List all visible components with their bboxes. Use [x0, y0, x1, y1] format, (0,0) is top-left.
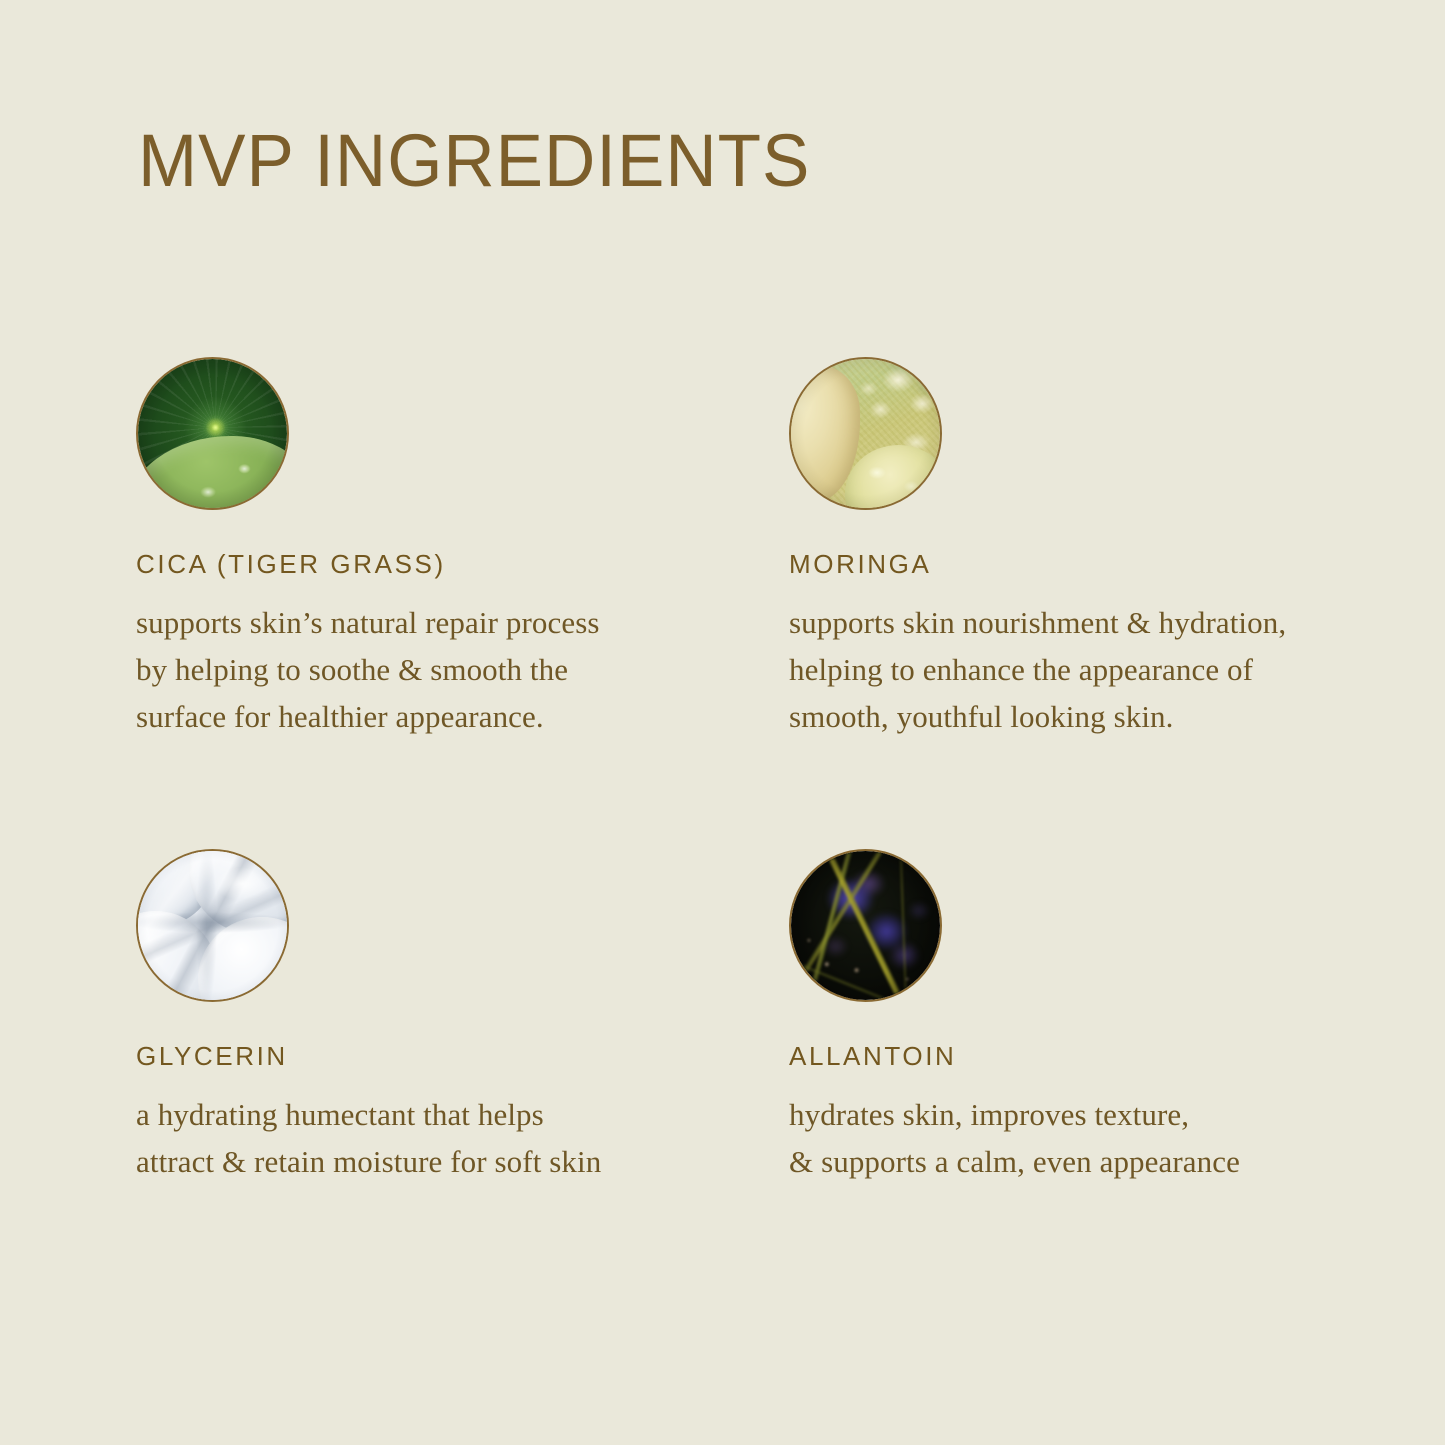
ingredient-name-allantoin: ALLANTOIN [789, 1043, 1409, 1069]
ingredient-name-glycerin: GLYCERIN [136, 1043, 756, 1069]
ingredient-description-moringa: supports skin nourishment & hydration, h… [789, 599, 1409, 740]
photo-vignette [138, 359, 287, 508]
allantoin-comfrey-photo [789, 849, 942, 1002]
glycerin-texture-photo [136, 849, 289, 1002]
ingredients-infographic: MVP INGREDIENTS CICA (TIGER GRASS) suppo… [0, 0, 1445, 1445]
ingredient-card-glycerin: GLYCERIN a hydrating humectant that help… [136, 849, 756, 1185]
photo-vignette [791, 359, 940, 508]
ingredient-name-cica: CICA (TIGER GRASS) [136, 551, 756, 577]
ingredient-card-allantoin: ALLANTOIN hydrates skin, improves textur… [789, 849, 1409, 1185]
ingredient-grid: CICA (TIGER GRASS) supports skin’s natur… [0, 0, 1445, 1445]
cica-leaf-photo [136, 357, 289, 510]
ingredient-name-moringa: MORINGA [789, 551, 1409, 577]
ingredient-description-allantoin: hydrates skin, improves texture, & suppo… [789, 1091, 1409, 1185]
photo-vignette [138, 851, 287, 1000]
ingredient-card-cica: CICA (TIGER GRASS) supports skin’s natur… [136, 357, 756, 740]
ingredient-description-cica: supports skin’s natural repair process b… [136, 599, 756, 740]
photo-vignette [791, 851, 940, 1000]
ingredient-card-moringa: MORINGA supports skin nourishment & hydr… [789, 357, 1409, 740]
ingredient-description-glycerin: a hydrating humectant that helps attract… [136, 1091, 756, 1185]
moringa-pod-photo [789, 357, 942, 510]
